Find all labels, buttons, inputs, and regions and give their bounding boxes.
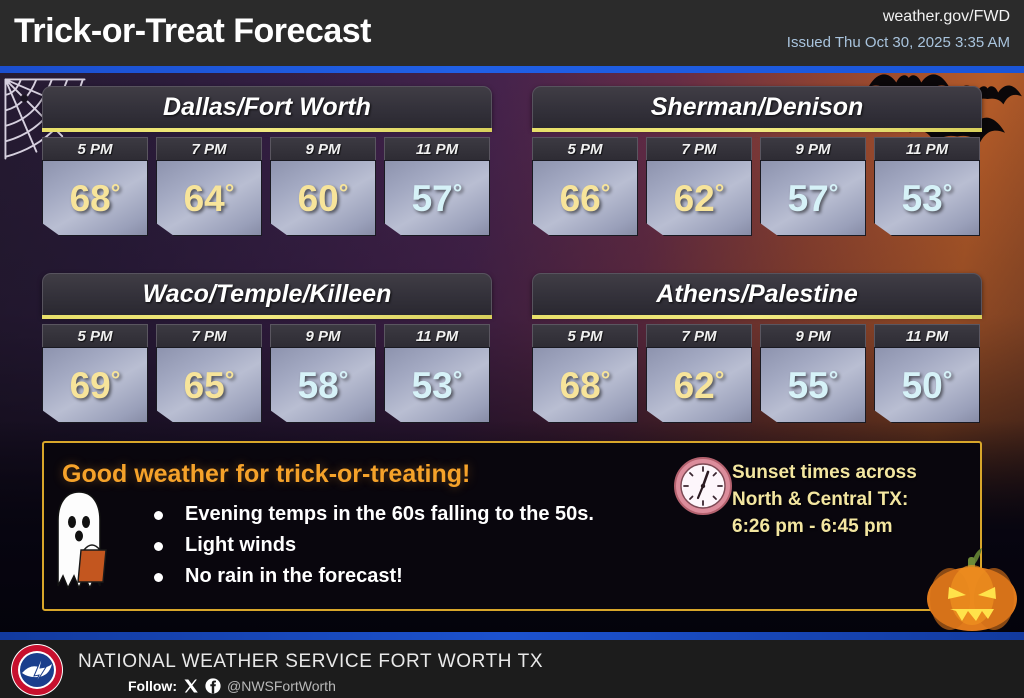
tile-time-header: 5 PM [532,137,638,160]
tile-temperature-value: 60° [298,180,349,217]
panel-underline [532,315,982,319]
forecast-tile: 5 PM 68° [42,137,148,236]
bullet-text: No rain in the forecast! [185,565,403,588]
tile-temperature-value: 64° [184,180,235,217]
tile-time-label: 5 PM [567,141,602,158]
tile-time-label: 9 PM [305,328,340,345]
panel-title-bar: Dallas/Fort Worth [42,86,492,128]
forecast-tile: 11 PM 53° [874,137,980,236]
bullet-dot-icon [154,511,163,520]
tile-temperature-value: 53° [412,367,463,404]
header-bar: Trick-or-Treat Forecast weather.gov/FWD … [0,0,1024,66]
tile-temperature-value: 55° [788,367,839,404]
bullet-dot-icon [154,542,163,551]
forecast-tile: 9 PM 55° [760,324,866,423]
jack-o-lantern-icon [924,545,1020,633]
tile-temperature-value: 66° [560,180,611,217]
tile-temperature-box: 64° [156,160,262,236]
tile-time-label: 7 PM [681,328,716,345]
tile-time-label: 7 PM [681,141,716,158]
header-issued-timestamp: Issued Thu Oct 30, 2025 3:35 AM [787,34,1010,51]
tile-time-label: 11 PM [906,141,948,158]
tile-temperature-value: 50° [902,367,953,404]
tile-temperature-box: 58° [270,347,376,423]
footer-office-name: NATIONAL WEATHER SERVICE FORT WORTH TX [78,651,543,673]
tile-time-header: 9 PM [270,137,376,160]
tile-time-label: 5 PM [77,141,112,158]
panel-city-name: Athens/Palestine [656,280,857,309]
sunset-line-1: Sunset times across [732,460,917,487]
forecast-tile: 9 PM 60° [270,137,376,236]
panel-city-name: Sherman/Denison [651,93,864,122]
footer-social-handle: @NWSFortWorth [227,678,336,694]
forecast-tile: 7 PM 64° [156,137,262,236]
tile-temperature-box: 53° [874,160,980,236]
tile-time-header: 9 PM [760,324,866,347]
forecast-tile-row: 5 PM 66° 7 PM 62° 9 PM 57° 11 PM 53° [532,137,982,236]
forecast-tile-row: 5 PM 68° 7 PM 64° 9 PM 60° 11 PM 57° [42,137,492,236]
panel-underline [532,128,982,132]
panel-underline [42,315,492,319]
tile-temperature-value: 69° [70,367,121,404]
header-website-url: weather.gov/FWD [883,8,1010,26]
tile-time-header: 7 PM [646,137,752,160]
tile-temperature-box: 62° [646,160,752,236]
nws-logo-icon [10,643,64,697]
tile-temperature-box: 53° [384,347,490,423]
list-item: No rain in the forecast! [154,565,594,588]
forecast-panel-dallas-fort-worth: Dallas/Fort Worth 5 PM 68° 7 PM 64° 9 PM… [42,86,492,236]
ghost-icon [48,488,110,600]
tile-time-header: 7 PM [156,137,262,160]
tile-time-label: 11 PM [416,328,458,345]
tile-temperature-value: 57° [788,180,839,217]
tile-temperature-box: 68° [532,347,638,423]
clock-icon [672,455,734,517]
forecast-tile-row: 5 PM 68° 7 PM 62° 9 PM 55° 11 PM 50° [532,324,982,423]
tile-time-label: 9 PM [795,328,830,345]
header-accent-rule [0,66,1024,73]
panel-city-name: Dallas/Fort Worth [163,93,371,122]
tile-temperature-value: 65° [184,367,235,404]
tile-time-header: 7 PM [156,324,262,347]
tile-temperature-box: 57° [384,160,490,236]
tile-temperature-box: 68° [42,160,148,236]
sunset-line-3: 6:26 pm - 6:45 pm [732,514,917,541]
tile-temperature-box: 66° [532,160,638,236]
tile-time-header: 9 PM [760,137,866,160]
footer-accent-rule [0,632,1024,640]
forecast-tile: 7 PM 62° [646,324,752,423]
footer-social-row: Follow: @NWSFortWorth [128,678,336,694]
forecast-panel-athens-palestine: Athens/Palestine 5 PM 68° 7 PM 62° 9 PM … [532,273,982,423]
panel-title-bar: Sherman/Denison [532,86,982,128]
summary-bullet-list: Evening temps in the 60s falling to the … [154,503,594,596]
forecast-tile: 11 PM 50° [874,324,980,423]
forecast-panel-sherman-denison: Sherman/Denison 5 PM 66° 7 PM 62° 9 PM 5… [532,86,982,236]
panel-underline [42,128,492,132]
forecast-tile: 5 PM 66° [532,137,638,236]
tile-time-header: 9 PM [270,324,376,347]
tile-time-header: 11 PM [874,324,980,347]
panel-title-bar: Athens/Palestine [532,273,982,315]
tile-time-label: 9 PM [305,141,340,158]
forecast-tile: 9 PM 58° [270,324,376,423]
tile-temperature-value: 62° [674,180,725,217]
tile-time-label: 5 PM [77,328,112,345]
tile-temperature-box: 50° [874,347,980,423]
sunset-line-2: North & Central TX: [732,487,917,514]
tile-time-header: 5 PM [42,324,148,347]
forecast-tile: 5 PM 68° [532,324,638,423]
tile-time-header: 5 PM [42,137,148,160]
tile-temperature-value: 62° [674,367,725,404]
tile-temperature-box: 69° [42,347,148,423]
tile-temperature-box: 57° [760,160,866,236]
tile-time-header: 11 PM [384,324,490,347]
list-item: Light winds [154,534,594,557]
panel-city-name: Waco/Temple/Killeen [143,280,392,309]
forecast-panel-waco-temple-killeen: Waco/Temple/Killeen 5 PM 69° 7 PM 65° 9 … [42,273,492,423]
tile-temperature-box: 55° [760,347,866,423]
tile-time-header: 5 PM [532,324,638,347]
sunset-times-block: Sunset times across North & Central TX: … [732,460,917,541]
tile-time-label: 11 PM [906,328,948,345]
panel-title-bar: Waco/Temple/Killeen [42,273,492,315]
tile-temperature-value: 68° [70,180,121,217]
forecast-tile: 7 PM 65° [156,324,262,423]
footer-bar: NATIONAL WEATHER SERVICE FORT WORTH TX F… [0,640,1024,698]
page-title: Trick-or-Treat Forecast [14,12,371,51]
tile-temperature-box: 65° [156,347,262,423]
tile-time-label: 7 PM [191,141,226,158]
forecast-tile: 7 PM 62° [646,137,752,236]
tile-time-label: 11 PM [416,141,458,158]
tile-time-header: 11 PM [874,137,980,160]
tile-time-label: 5 PM [567,328,602,345]
forecast-tile: 11 PM 57° [384,137,490,236]
tile-temperature-box: 62° [646,347,752,423]
x-twitter-icon[interactable] [183,678,199,694]
forecast-tile: 11 PM 53° [384,324,490,423]
tile-time-header: 7 PM [646,324,752,347]
summary-headline: Good weather for trick-or-treating! [62,460,470,489]
tile-temperature-box: 60° [270,160,376,236]
tile-time-label: 9 PM [795,141,830,158]
tile-time-header: 11 PM [384,137,490,160]
facebook-icon[interactable] [205,678,221,694]
bullet-dot-icon [154,573,163,582]
bullet-text: Evening temps in the 60s falling to the … [185,503,594,526]
forecast-tile: 5 PM 69° [42,324,148,423]
bullet-text: Light winds [185,534,296,557]
tile-time-label: 7 PM [191,328,226,345]
forecast-tile-row: 5 PM 69° 7 PM 65° 9 PM 58° 11 PM 53° [42,324,492,423]
tile-temperature-value: 57° [412,180,463,217]
footer-follow-label: Follow: [128,678,177,694]
tile-temperature-value: 58° [298,367,349,404]
tile-temperature-value: 53° [902,180,953,217]
list-item: Evening temps in the 60s falling to the … [154,503,594,526]
forecast-tile: 9 PM 57° [760,137,866,236]
tile-temperature-value: 68° [560,367,611,404]
